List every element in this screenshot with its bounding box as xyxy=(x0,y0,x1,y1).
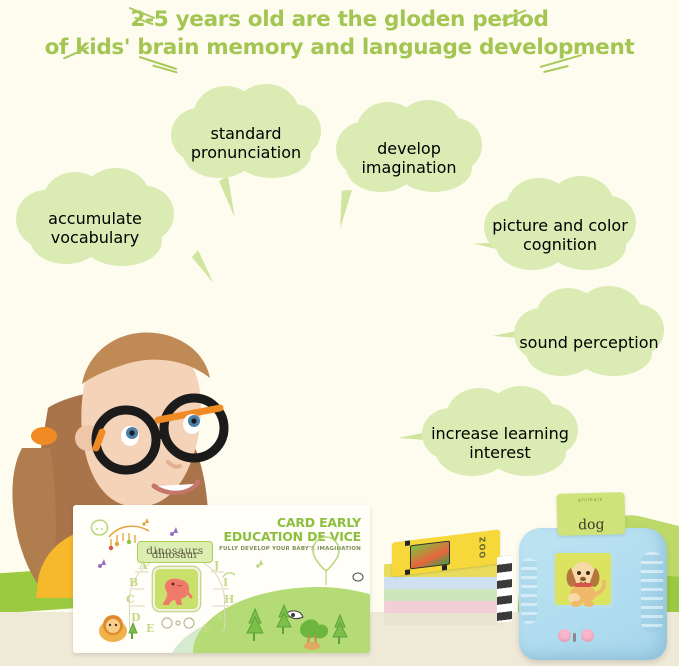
stack-card-label: ZOO xyxy=(477,536,486,560)
bubble-tail xyxy=(218,176,239,219)
bubble-tail xyxy=(190,250,217,285)
headline-decor-stroke xyxy=(543,65,569,73)
box-decorations xyxy=(73,505,370,653)
card-code-strip xyxy=(497,555,512,623)
stack-layer xyxy=(384,576,502,589)
inserted-flashcard[interactable]: animals dog xyxy=(556,492,625,536)
benefit-bubble-standard-pronunciation[interactable]: standard pronunciation xyxy=(171,84,321,182)
benefit-bubble-accumulate-vocabulary[interactable]: accumulate vocabulary xyxy=(16,168,174,268)
device-ridge-right xyxy=(641,552,663,632)
flashcard-category: animals xyxy=(578,498,603,504)
product-box[interactable]: CARD EARLY EDUCATION DE VICE FULLY DEVEL… xyxy=(73,505,370,653)
benefit-label: sound perception xyxy=(519,333,658,352)
stack-layer xyxy=(384,588,502,601)
benefit-label: accumulate vocabulary xyxy=(16,209,174,247)
power-button[interactable] xyxy=(581,629,594,642)
benefit-bubble-sound-perception[interactable]: sound perception xyxy=(514,286,664,380)
headline-line-2: of kids' brain memory and language devel… xyxy=(0,34,679,62)
device-screen xyxy=(552,550,614,608)
infographic-canvas: 2-5 years old are the gloden period of k… xyxy=(0,0,679,666)
benefit-bubble-develop-imagination[interactable]: develop imagination xyxy=(336,100,482,196)
benefit-label: increase learning interest xyxy=(422,424,578,462)
benefit-label: picture and color cognition xyxy=(484,216,636,254)
benefit-bubble-picture-color-cognition[interactable]: picture and color cognition xyxy=(484,176,636,274)
stack-layer xyxy=(384,612,502,625)
device-ridge-left xyxy=(521,558,537,624)
stack-layer xyxy=(384,600,502,613)
flashcard-stack[interactable]: ZOO xyxy=(384,534,514,629)
status-led xyxy=(573,633,576,642)
card-marker xyxy=(405,540,410,546)
flashcard-word: dog xyxy=(578,517,605,536)
benefit-bubble-increase-learning-interest[interactable]: increase learning interest xyxy=(422,386,578,480)
benefit-label: standard pronunciation xyxy=(171,124,321,162)
play-button[interactable] xyxy=(558,629,571,642)
card-marker xyxy=(405,569,410,575)
audio-flashcard-device[interactable]: animals dog xyxy=(519,528,667,660)
card-marker xyxy=(442,565,447,571)
benefit-label: develop imagination xyxy=(336,139,482,177)
headline-line-1: 2-5 years old are the gloden period xyxy=(0,6,679,34)
